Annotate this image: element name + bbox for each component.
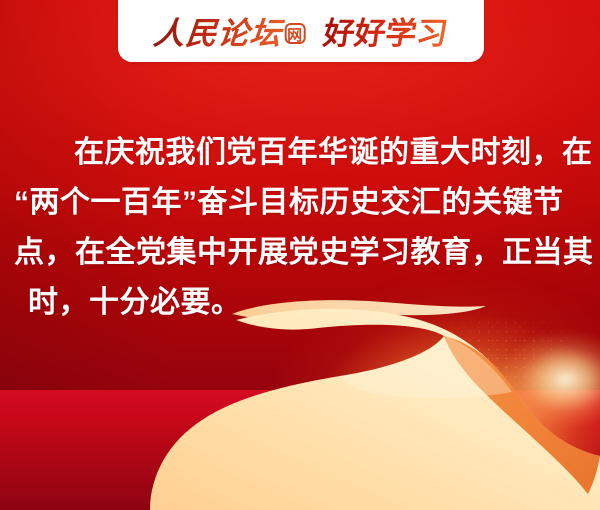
brand-logo-secondary[interactable]: 好好学习 [321, 8, 451, 53]
quote-line-1: 在庆祝我们党百年华诞的重大时刻，在 [14, 128, 586, 178]
poster-root: 人民论坛网 好好学习 在庆祝我们党百年华诞的重大时刻，在 “两个一百年”奋斗目标… [0, 0, 600, 510]
quote-line-3: 点，在全党集中开展党史学习教育，正当其 [14, 228, 586, 278]
brand-logo-primary-text: 人民论坛 [152, 16, 284, 52]
logo-banner[interactable]: 人民论坛网 好好学习 [118, 0, 484, 62]
brand-logo-primary[interactable]: 人民论坛网 [152, 8, 309, 53]
quote-line-2: “两个一百年”奋斗目标历史交汇的关键节 [14, 178, 586, 228]
quote-line-4: 时，十分必要。 [14, 278, 586, 328]
brand-net-badge-icon: 网 [285, 23, 306, 44]
quote-block: 在庆祝我们党百年华诞的重大时刻，在 “两个一百年”奋斗目标历史交汇的关键节 点，… [14, 128, 586, 328]
